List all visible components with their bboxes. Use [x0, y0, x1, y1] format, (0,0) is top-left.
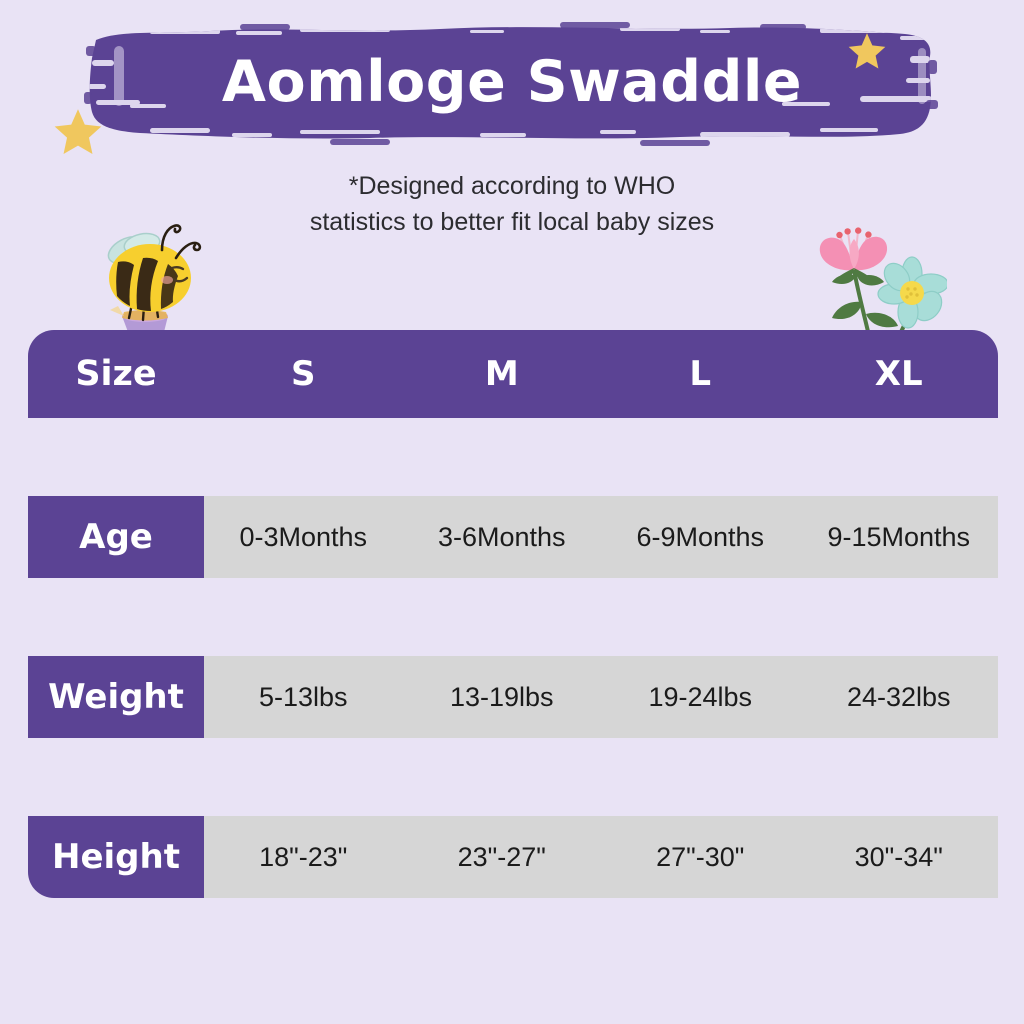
weight-l: 19-24lbs: [601, 656, 800, 738]
header-size-xl: XL: [800, 330, 999, 418]
star-icon: [50, 105, 106, 161]
age-l: 6-9Months: [601, 496, 800, 578]
table-header-row: Size S M L XL: [28, 330, 998, 418]
weight-m: 13-19lbs: [403, 656, 602, 738]
table-row-spacer: [28, 418, 998, 496]
subtitle-line-1: *Designed according to WHO: [0, 168, 1024, 204]
header-size-s: S: [204, 330, 403, 418]
title-banner: Aomloge Swaddle: [0, 0, 1024, 160]
height-s: 18"-23": [204, 816, 403, 898]
row-label-age: Age: [28, 496, 204, 578]
header-label-size: Size: [28, 330, 204, 418]
page-title: Aomloge Swaddle: [0, 48, 1024, 116]
row-label-height: Height: [28, 816, 204, 898]
height-m: 23"-27": [403, 816, 602, 898]
bee-illustration: [88, 212, 208, 337]
age-s: 0-3Months: [204, 496, 403, 578]
height-xl: 30"-34": [800, 816, 999, 898]
weight-s: 5-13lbs: [204, 656, 403, 738]
row-label-weight: Weight: [28, 656, 204, 738]
weight-xl: 24-32lbs: [800, 656, 999, 738]
height-l: 27"-30": [601, 816, 800, 898]
table-row-weight: Weight 5-13lbs 13-19lbs 19-24lbs 24-32lb…: [28, 656, 998, 738]
flowers-illustration: [792, 222, 947, 342]
table-row-spacer: [28, 578, 998, 656]
age-m: 3-6Months: [403, 496, 602, 578]
header-size-l: L: [601, 330, 800, 418]
header-size-m: M: [403, 330, 602, 418]
size-chart-table: Size S M L XL Age 0-3Months 3-6Months 6-…: [28, 330, 998, 898]
table-row-age: Age 0-3Months 3-6Months 6-9Months 9-15Mo…: [28, 496, 998, 578]
table-row-spacer: [28, 738, 998, 816]
age-xl: 9-15Months: [800, 496, 999, 578]
table-row-height: Height 18"-23" 23"-27" 27"-30" 30"-34": [28, 816, 998, 898]
